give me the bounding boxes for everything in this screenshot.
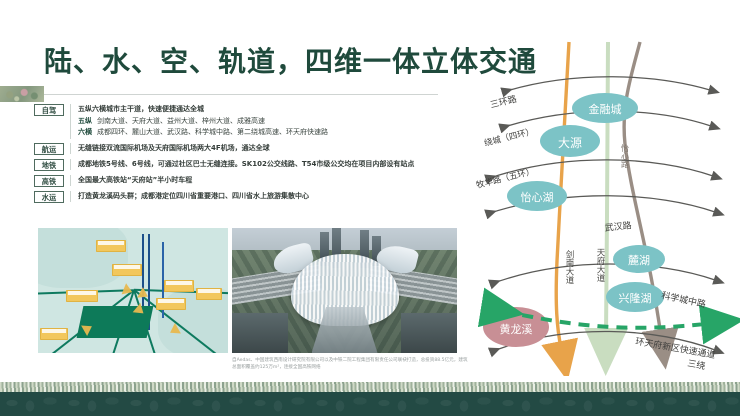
transport-main-text: 全国最大高铁站“天府站”半小时车程 (78, 175, 474, 187)
list-item: 自驾 五纵六横城市主干道，快速便捷通达全城 五纵剑南大道、天府大道、益州大道、梓… (34, 104, 474, 139)
district-jinrongcheng: 金融城 (572, 93, 638, 123)
transit-schematic-artwork (38, 228, 228, 353)
list-item: 水运 打造黄龙溪码头群；成都港定位四川省重要港口、四川省水上旅游集散中心 (34, 191, 474, 203)
transport-main-text: 无缝链接双流国际机场及天府国际机场两大4F机场，通达全球 (78, 143, 474, 155)
list-item: 地铁 成都地铁5号线、6号线，可通过社区巴士无缝连接。SK102公交线路、T54… (34, 159, 474, 171)
title-divider (0, 86, 438, 102)
transport-tag: 自驾 (34, 104, 64, 116)
list-item: 航运 无缝链接双流国际机场及天府国际机场两大4F机场，通达全球 (34, 143, 474, 155)
page-title: 陆、水、空、轨道，四维一体立体交通 (44, 40, 537, 80)
svg-text:金融城: 金融城 (589, 102, 622, 116)
transport-main-text: 打造黄龙溪码头群；成都港定位四川省重要港口、四川省水上旅游集散中心 (78, 191, 474, 203)
footer-bar (0, 392, 740, 416)
radial-label-tianfu: 天府大道 (595, 248, 605, 283)
svg-text:黄龙溪: 黄龙溪 (500, 322, 533, 336)
ring-label-raocheng: 绕城（四环） (483, 126, 535, 149)
transport-sub-text: 成都四环、麓山大道、武汉路、科学城中路、第二绕城高速、环天府快速路 (97, 128, 328, 136)
station-aerial-artwork (232, 228, 457, 353)
station-aerial-image (232, 228, 457, 353)
transport-tag: 高铁 (34, 175, 64, 187)
radial-road-tianfu-avenue (606, 42, 608, 336)
list-item: 高铁 全国最大高铁站“天府站”半小时车程 (34, 175, 474, 187)
svg-text:大源: 大源 (558, 136, 582, 150)
ring-label-kexuecheng: 科学城中路 (660, 289, 707, 310)
transport-main-text: 成都地铁5号线、6号线，可通过社区巴士无缝连接。SK102公交线路、T54市级公… (78, 159, 474, 171)
footer-texture-strip (0, 382, 740, 392)
transport-body: 无缝链接双流国际机场及天府国际机场两大4F机场，通达全球 (70, 143, 474, 155)
transport-body: 成都地铁5号线、6号线，可通过社区巴士无缝连接。SK102公交线路、T54市级公… (70, 159, 474, 171)
svg-text:怡心湖: 怡心湖 (521, 190, 554, 204)
district-luhu: 麓湖 (613, 245, 665, 273)
divider-line (44, 94, 438, 95)
transport-tag: 水运 (34, 191, 64, 203)
transport-list: 自驾 五纵六横城市主干道，快速便捷通达全城 五纵剑南大道、天府大道、益州大道、梓… (34, 104, 474, 204)
svg-text:兴隆湖: 兴隆湖 (619, 291, 652, 305)
transport-tag: 地铁 (34, 159, 64, 171)
district-huanglongxi: 黄龙溪 (483, 307, 549, 347)
radial-label-jiannan: 剑南大道 (564, 249, 574, 284)
district-yixinhu: 怡心湖 (507, 181, 567, 211)
ring-label-sanhuan: 三环路 (489, 93, 518, 111)
transport-sub-label: 六横 (78, 128, 92, 136)
transport-main-text: 五纵六横城市主干道，快速便捷通达全城 (78, 104, 474, 116)
district-dayuan: 大源 (540, 125, 600, 157)
transport-sub-label: 五纵 (78, 117, 92, 125)
transport-sub-row: 五纵剑南大道、天府大道、益州大道、梓州大道、成雅高速 (78, 116, 474, 127)
ring-label-sanrao: 三绕 (686, 357, 706, 372)
floral-ornament-icon (0, 86, 44, 102)
transport-body: 打造黄龙溪码头群；成都港定位四川省重要港口、四川省水上旅游集散中心 (70, 191, 474, 203)
transport-sub-text: 剑南大道、天府大道、益州大道、梓州大道、成雅高速 (97, 117, 265, 125)
transport-tag: 航运 (34, 143, 64, 155)
transport-body: 五纵六横城市主干道，快速便捷通达全城 五纵剑南大道、天府大道、益州大道、梓州大道… (70, 104, 474, 139)
transport-body: 全国最大高铁站“天府站”半小时车程 (70, 175, 474, 187)
district-xinglonghu: 兴隆湖 (606, 282, 664, 312)
svg-text:麓湖: 麓湖 (628, 254, 650, 267)
radial-label-yixin: 怡心路 (621, 143, 630, 168)
transit-schematic-image (38, 228, 228, 353)
photo-caption: 自Aedas、中国建筑西南设计研究院有限公司以及中铁二院工程集团有限责任公司联袂… (232, 358, 472, 371)
transport-sub-row: 六横成都四环、麓山大道、武汉路、科学城中路、第二绕城高速、环天府快速路 (78, 127, 474, 138)
regional-road-diagram: 金融城 大源 怡心湖 麓湖 兴隆湖 黄龙溪 三环路 绕城（四环） 牧华路（五环）… (465, 36, 740, 376)
